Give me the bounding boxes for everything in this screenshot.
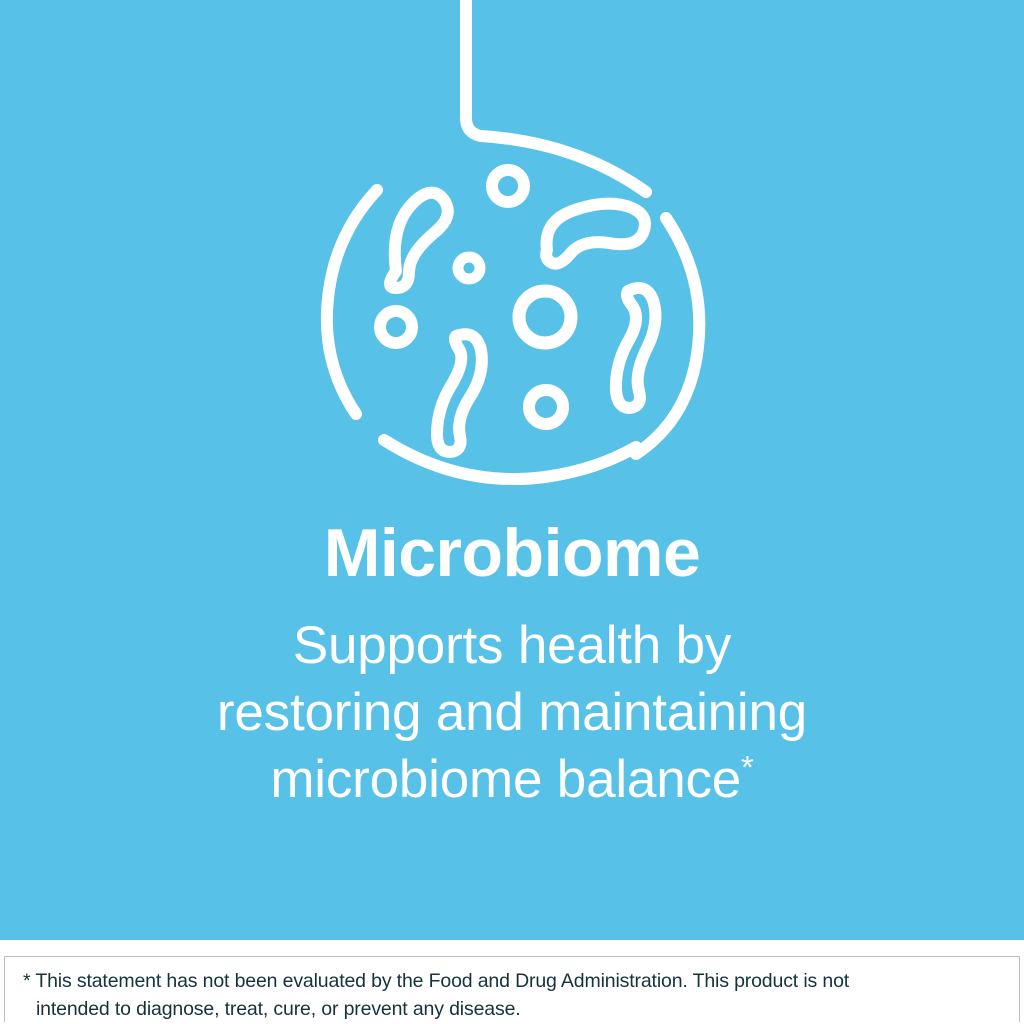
disclaimer-box: * This statement has not been evaluated … — [4, 956, 1020, 1022]
disclaimer-line-2: intended to diagnose, treat, cure, or pr… — [23, 996, 1001, 1024]
subtitle-line-3: microbiome balance* — [40, 747, 984, 814]
probe-handle-path — [466, 0, 481, 136]
disclaimer-line-1: * This statement has not been evaluated … — [23, 968, 1001, 996]
disclaimer-text: * This statement has not been evaluated … — [5, 957, 1019, 1023]
page-title: Microbiome — [40, 518, 984, 589]
subtitle-asterisk: * — [741, 748, 754, 785]
colony-ring-large — [519, 291, 571, 343]
petri-dish-icon-svg — [0, 0, 1024, 500]
bacterium-upper-right — [546, 204, 645, 264]
colony-ring-bottom-center — [529, 390, 563, 424]
disclaimer-footer: * This statement has not been evaluated … — [0, 940, 1024, 1024]
subtitle-line-3-text: microbiome balance — [270, 750, 741, 809]
bacterium-lower-middle — [437, 334, 482, 452]
subtitle-line-2: restoring and maintaining — [40, 680, 984, 747]
dish-rim-arc-top-right — [481, 136, 646, 192]
hero-panel: Microbiome Supports health by restoring … — [0, 0, 1024, 940]
colony-ring-top-center — [492, 170, 524, 202]
dish-rim-arc-right — [636, 218, 699, 454]
colony-ring-small — [458, 257, 480, 279]
petri-dish-microbiome-icon — [0, 0, 1024, 500]
subtitle-line-1: Supports health by — [40, 613, 984, 680]
text-block: Microbiome Supports health by restoring … — [0, 518, 1024, 814]
colony-ring-left — [380, 311, 412, 343]
dish-rim-arc-bottom — [384, 440, 636, 479]
microbiome-benefit-card: Microbiome Supports health by restoring … — [0, 0, 1024, 1024]
bacterium-right — [616, 288, 656, 408]
bacterium-upper-left — [390, 193, 448, 288]
dish-rim-arc-left — [327, 190, 377, 414]
subtitle: Supports health by restoring and maintai… — [40, 613, 984, 813]
